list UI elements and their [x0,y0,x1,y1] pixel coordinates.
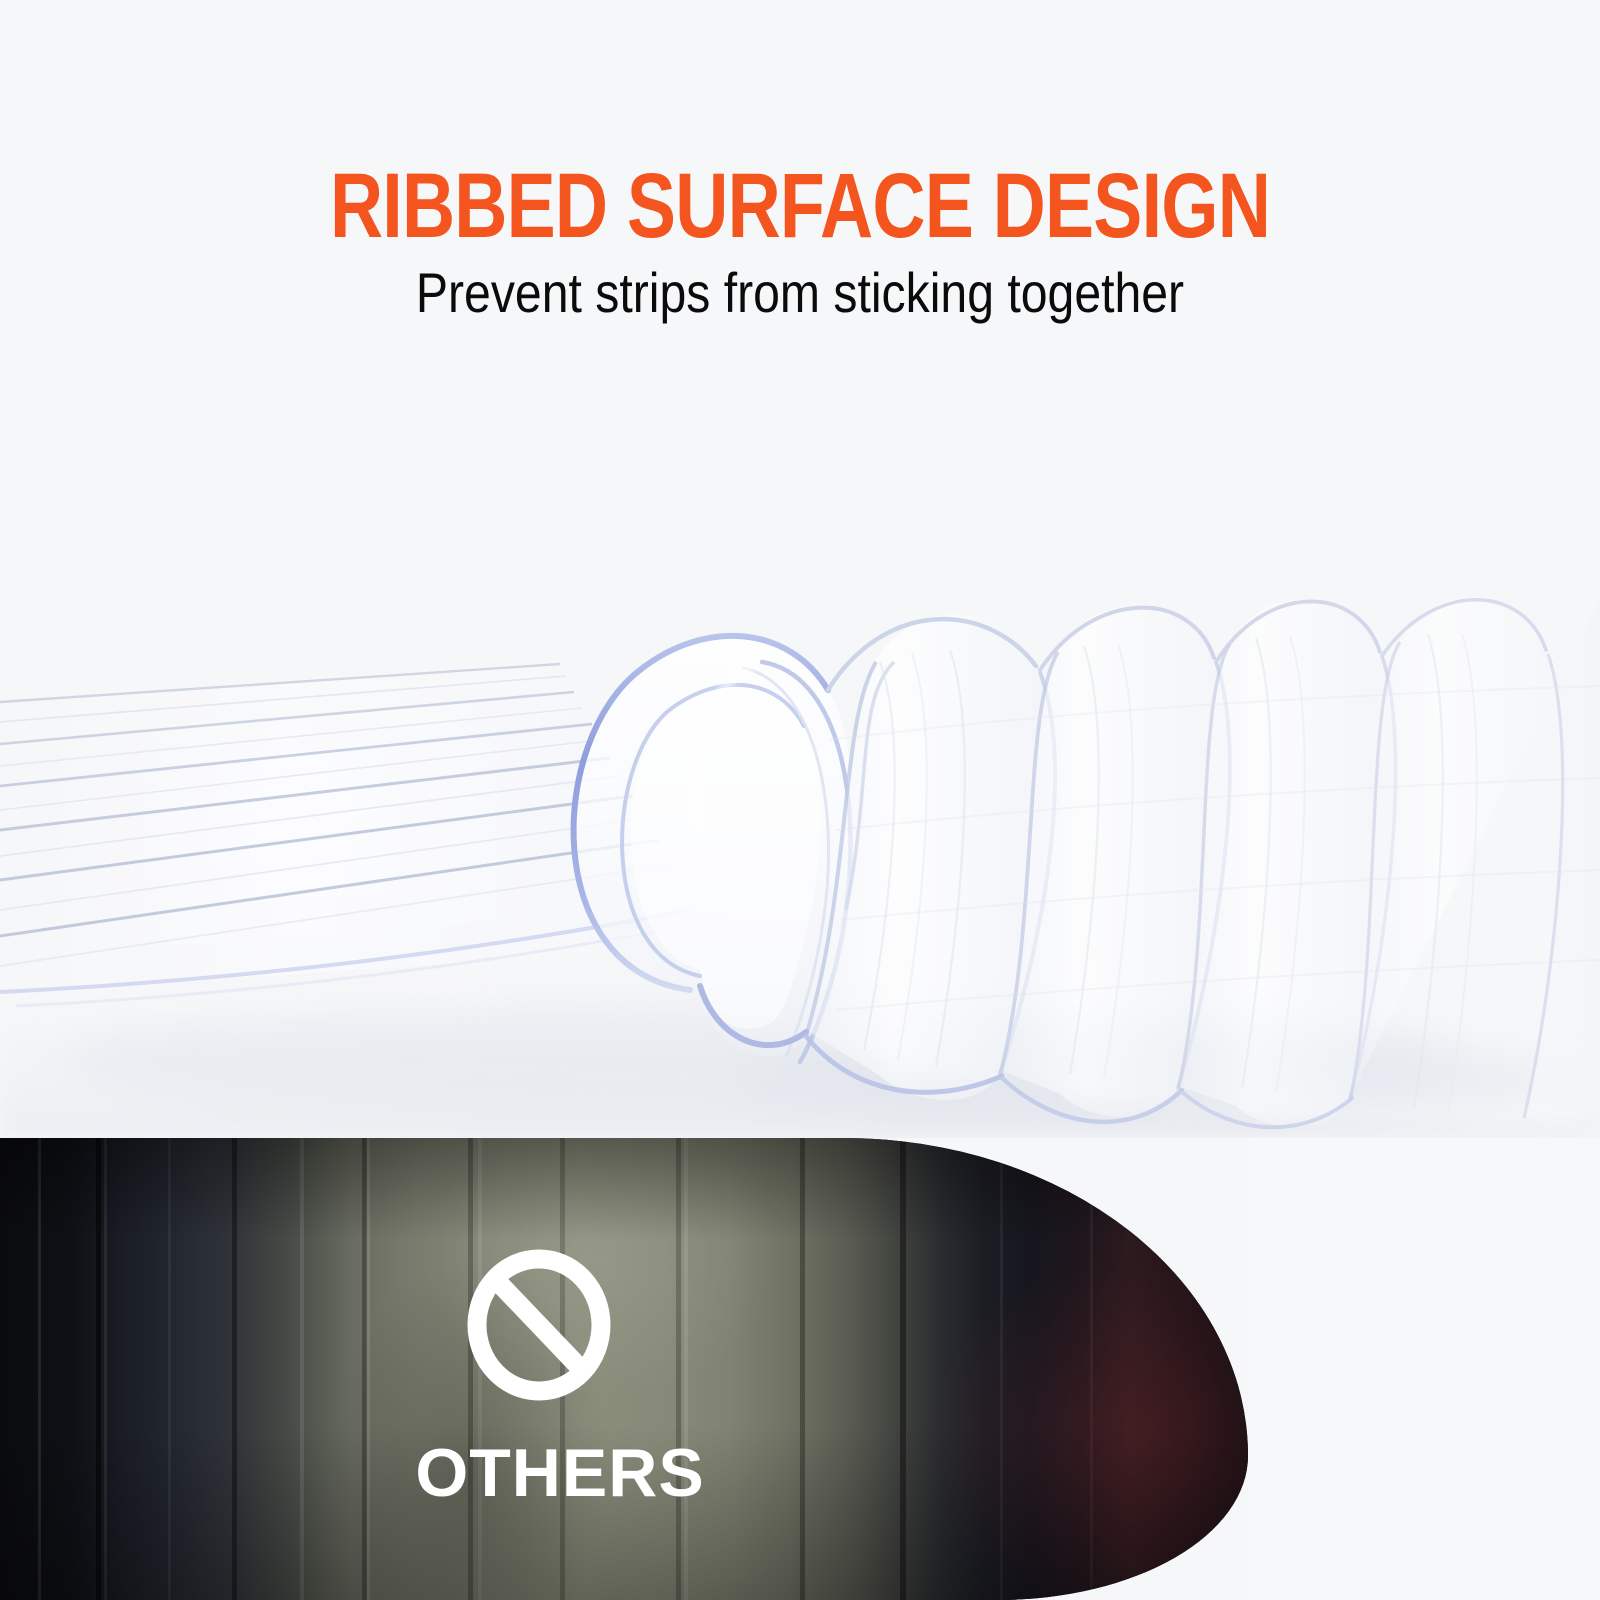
product-image-pvc-strip-curtain [0,270,1600,1138]
others-comparison-panel [0,1138,1248,1600]
others-label: OTHERS [0,1438,1120,1508]
page-title: RIBBED SURFACE DESIGN [160,160,1440,252]
panel-right-whitespace [1248,1138,1600,1600]
hero-section: RIBBED SURFACE DESIGN Prevent strips fro… [0,0,1600,1138]
prohibition-icon [466,1248,612,1402]
curtain-grime-overlay [0,1138,1248,1600]
product-feature-image: RIBBED SURFACE DESIGN Prevent strips fro… [0,0,1600,1600]
fold-stack [806,597,1600,1130]
